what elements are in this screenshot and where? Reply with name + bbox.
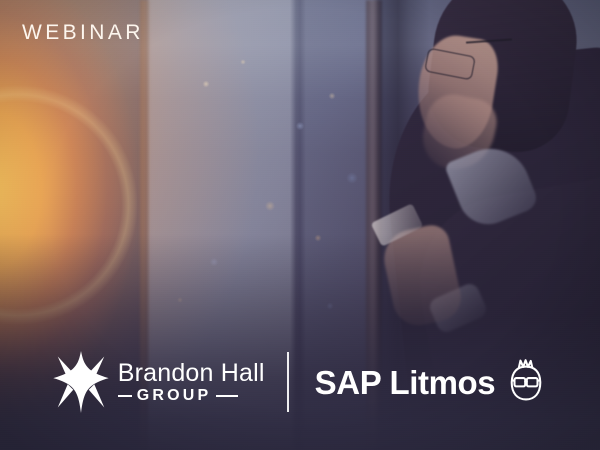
brandon-hall-star-icon [53, 351, 109, 413]
eyebrow-label: WEBINAR [22, 22, 144, 43]
group-rule-right [216, 395, 238, 397]
brandon-hall-name: Brandon Hall [118, 360, 265, 386]
brandon-hall-wordmark: Brandon Hall GROUP [118, 360, 265, 403]
group-rule-left [118, 395, 132, 397]
logo-lockup: Brandon Hall GROUP SAP Litmos [0, 340, 600, 424]
sap-litmos-wordmark: SAP Litmos [315, 366, 496, 399]
litmos-nerd-face-icon [505, 359, 547, 405]
webinar-promo-banner: WEBINAR Brandon Hall GROUP [0, 0, 600, 450]
sap-litmos-logo: SAP Litmos [315, 359, 548, 405]
brandon-hall-group-subtitle: GROUP [137, 388, 212, 404]
brandon-hall-group-logo: Brandon Hall GROUP [53, 351, 265, 413]
brandon-hall-group-row: GROUP [118, 388, 265, 404]
logo-divider [287, 352, 289, 412]
